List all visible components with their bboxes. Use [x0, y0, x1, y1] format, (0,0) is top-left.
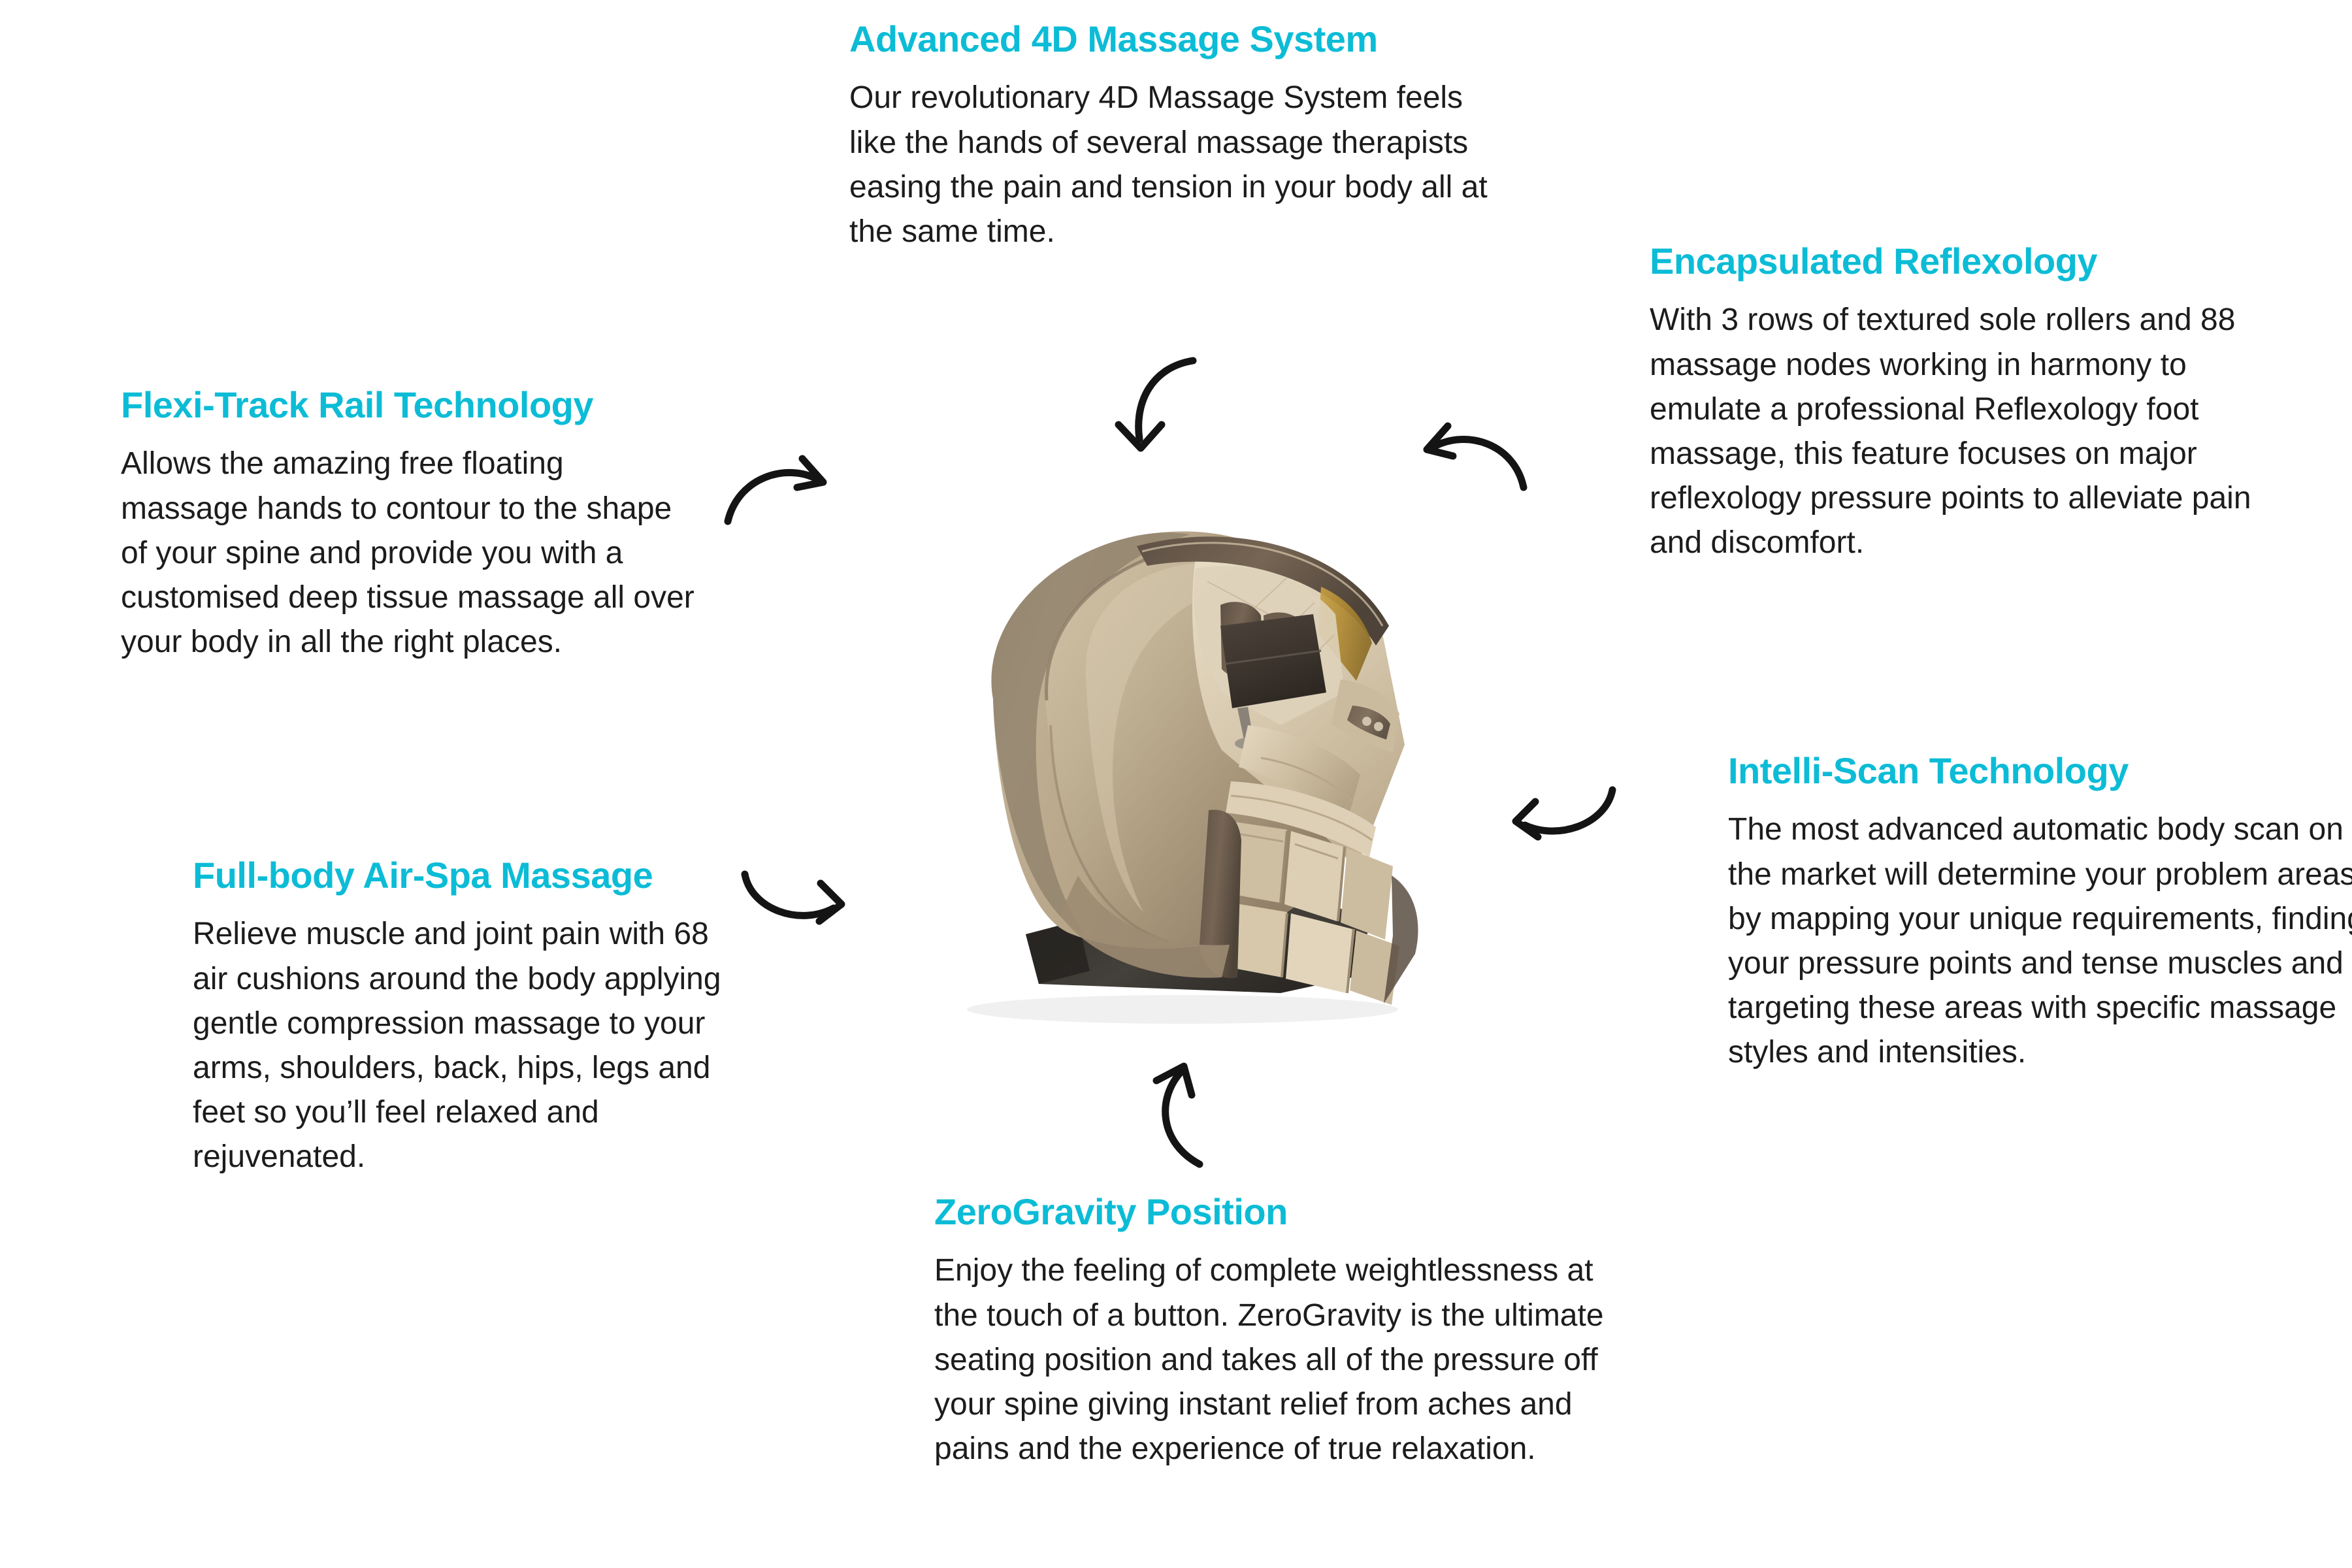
feature-full-body-air-spa-massage: Full-body Air-Spa Massage Relieve muscle… — [193, 856, 735, 1179]
feature-title: Full-body Air-Spa Massage — [193, 856, 735, 895]
chair-ground-shadow — [967, 995, 1398, 1024]
feature-title: ZeroGravity Position — [934, 1192, 1633, 1232]
feature-description: Our revolutionary 4D Massage System feel… — [849, 76, 1509, 254]
feature-title: Intelli-Scan Technology — [1728, 751, 2352, 791]
chair-console-button-1 — [1362, 717, 1371, 726]
massage-chair-illustration — [830, 418, 1561, 1032]
curved-arrow-left-icon — [1496, 781, 1627, 859]
feature-zerogravity-position: ZeroGravity Position Enjoy the feeling o… — [934, 1192, 1633, 1471]
chair-console-button-2 — [1374, 722, 1383, 731]
feature-advanced-4d-massage-system: Advanced 4D Massage System Our revolutio… — [849, 20, 1509, 254]
feature-title: Flexi-Track Rail Technology — [121, 385, 696, 425]
feature-description: The most advanced automatic body scan on… — [1728, 808, 2352, 1075]
feature-encapsulated-reflexology: Encapsulated Reflexology With 3 rows of … — [1650, 242, 2303, 565]
infographic-canvas: Advanced 4D Massage System Our revolutio… — [0, 0, 2352, 1568]
feature-intelli-scan-technology: Intelli-Scan Technology The most advance… — [1728, 751, 2352, 1075]
curved-arrow-right-icon — [732, 862, 862, 941]
feature-title: Advanced 4D Massage System — [849, 20, 1509, 59]
feature-title: Encapsulated Reflexology — [1650, 242, 2303, 281]
curved-arrow-right-icon — [719, 444, 849, 536]
feature-description: With 3 rows of textured sole rollers and… — [1650, 298, 2303, 565]
curved-arrow-up-icon — [1143, 1058, 1248, 1176]
curved-arrow-down-icon — [1111, 353, 1215, 470]
feature-description: Allows the amazing free floating massage… — [121, 442, 696, 664]
curved-arrow-left-icon — [1405, 418, 1535, 510]
feature-flexi-track-rail-technology: Flexi-Track Rail Technology Allows the a… — [121, 385, 696, 664]
feature-description: Enjoy the feeling of complete weightless… — [934, 1249, 1633, 1471]
feature-description: Relieve muscle and joint pain with 68 ai… — [193, 912, 735, 1179]
